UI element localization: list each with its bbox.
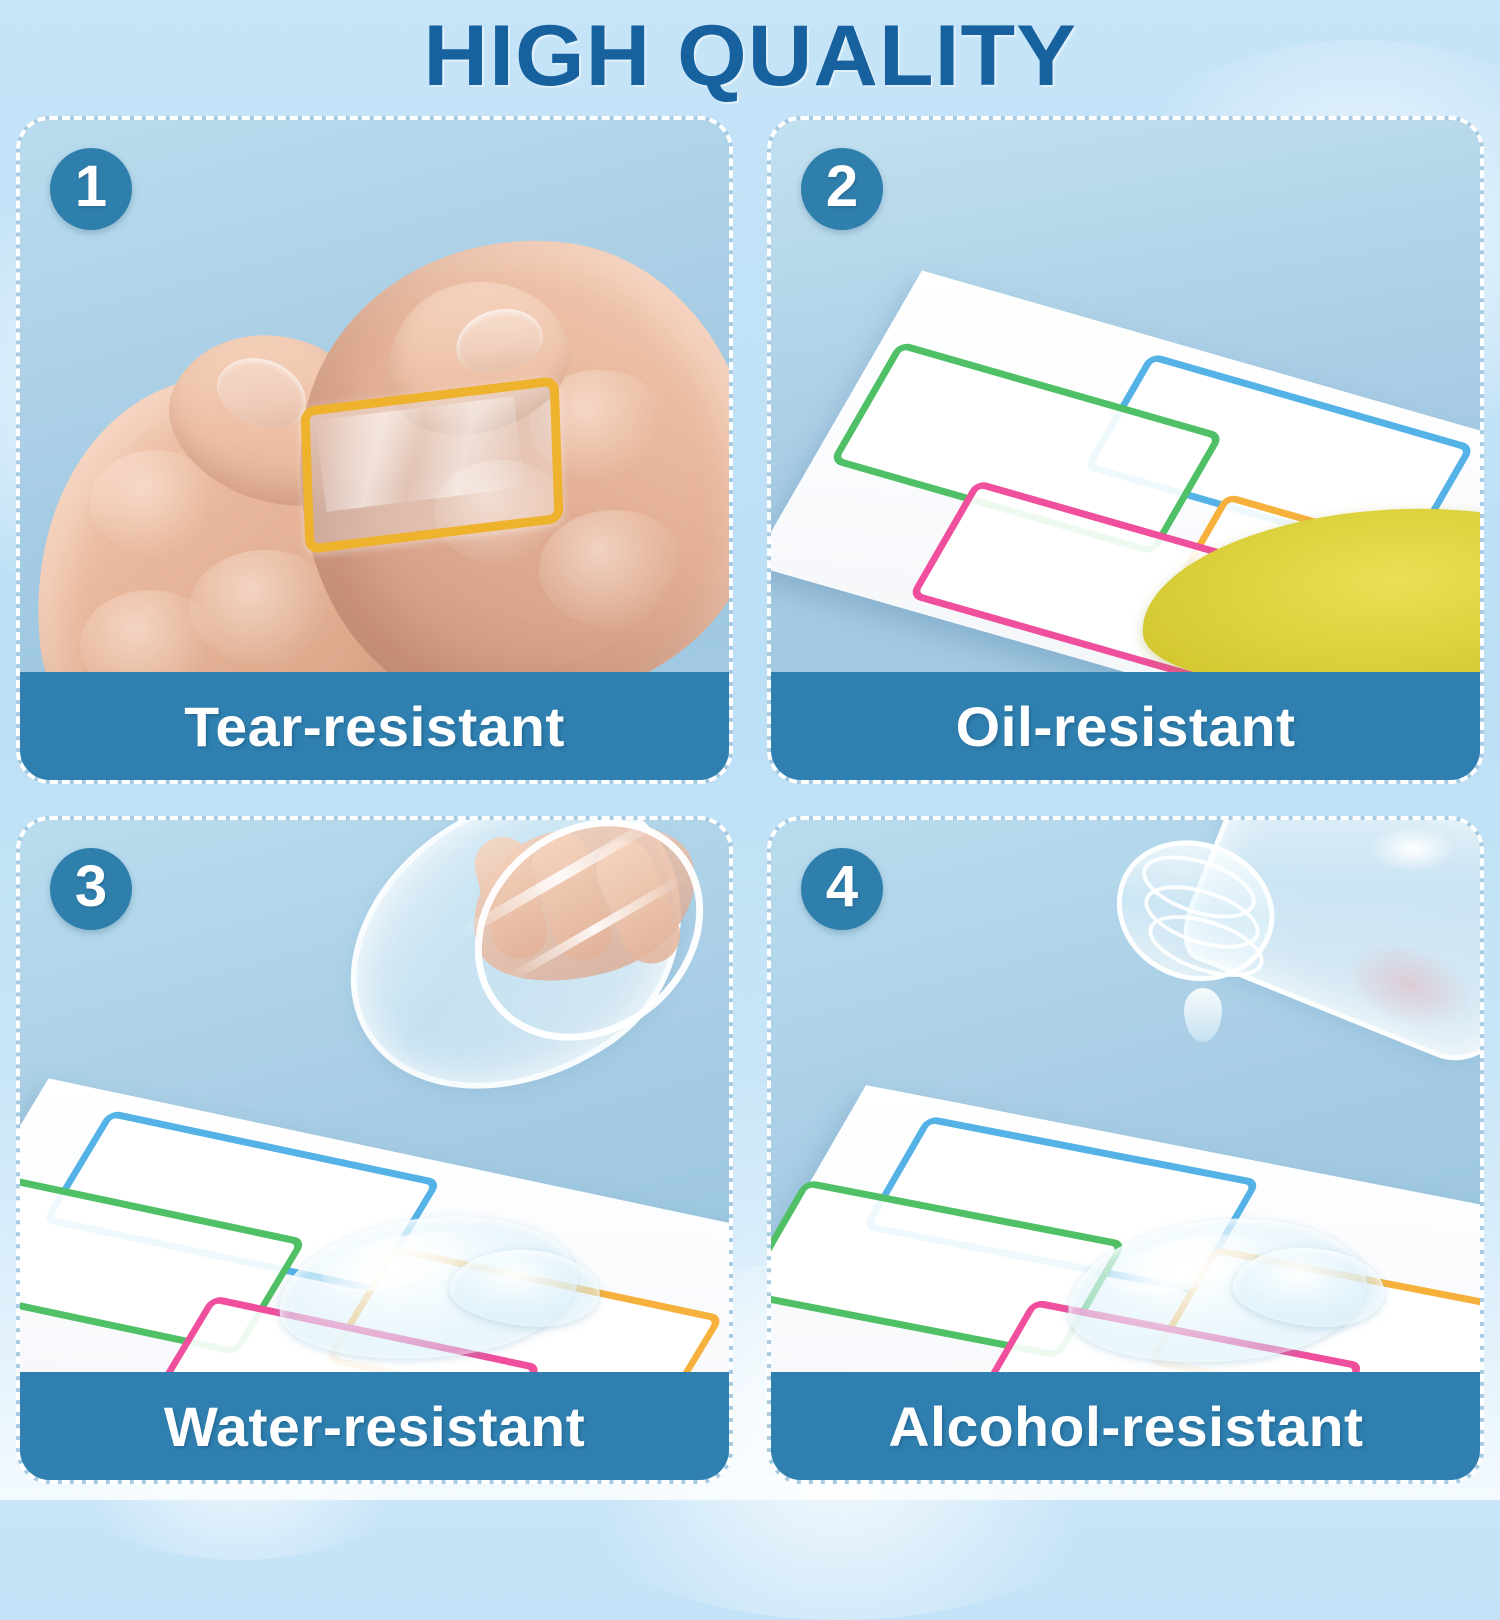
panel-number-badge-3: 3 <box>50 848 132 930</box>
panel-caption-bar-2: Oil-resistant <box>771 672 1480 780</box>
panel-number-4: 4 <box>826 858 858 916</box>
knuckle-shade-icon <box>539 510 689 628</box>
feature-panel-tear-resistant[interactable]: 1 Tear-resistant <box>16 116 733 784</box>
page-title-bar: HIGH QUALITY <box>0 0 1500 112</box>
panel-caption-1: Tear-resistant <box>184 694 565 759</box>
panel-caption-3: Water-resistant <box>164 1394 585 1459</box>
panel-caption-4: Alcohol-resistant <box>888 1394 1363 1459</box>
page-title: HIGH QUALITY <box>423 13 1076 99</box>
panel-caption-2: Oil-resistant <box>956 694 1296 759</box>
panel-caption-bar-3: Water-resistant <box>20 1372 729 1480</box>
panel-number-badge-2: 2 <box>801 148 883 230</box>
panel-number-1: 1 <box>75 158 107 216</box>
panel-caption-bar-4: Alcohol-resistant <box>771 1372 1480 1480</box>
feature-panel-alcohol-resistant[interactable]: 4 Alcohol-resistant <box>767 816 1484 1484</box>
panel-number-badge-4: 4 <box>801 848 883 930</box>
feature-panel-grid: 1 Tear-resistant 2 Oil-resistant <box>16 116 1484 1484</box>
panel-number-3: 3 <box>75 858 107 916</box>
feature-panel-oil-resistant[interactable]: 2 Oil-resistant <box>767 116 1484 784</box>
bottle-glint-icon <box>1370 826 1456 872</box>
feature-panel-water-resistant[interactable]: 3 Water-resistant <box>16 816 733 1484</box>
panel-number-2: 2 <box>826 158 858 216</box>
panel-caption-bar-1: Tear-resistant <box>20 672 729 780</box>
panel-number-badge-1: 1 <box>50 148 132 230</box>
